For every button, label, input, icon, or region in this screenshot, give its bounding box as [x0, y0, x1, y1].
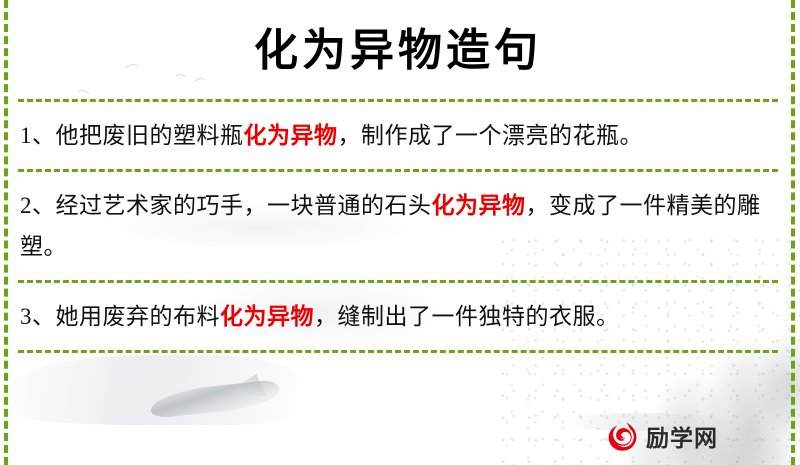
sentence-number: 2、 — [20, 193, 56, 218]
divider-bottom — [18, 350, 778, 353]
content-area: 化为异物造句 1、他把废旧的塑料瓶化为异物，制作成了一个漂亮的花瓶。 2、经过艺… — [0, 0, 800, 465]
page-root: ⌒ ⌒ ⌒ ⌒ 化为异物造句 1、他把废旧的塑料瓶化为异物，制作成了一个漂亮的花… — [0, 0, 800, 465]
sentence-text-before: 她用废弃的布料 — [56, 304, 221, 329]
highlighted-idiom: 化为异物 — [220, 304, 314, 329]
sentence-text-before: 他把废旧的塑料瓶 — [56, 123, 244, 148]
sentence-item-2: 2、经过艺术家的巧手，一块普通的石头化为异物，变成了一件精美的雕塑。 — [18, 172, 778, 280]
highlighted-idiom: 化为异物 — [244, 123, 338, 148]
site-logo[interactable]: 励学网 — [606, 419, 718, 453]
sentence-number: 3、 — [20, 304, 56, 329]
sentence-text-after: ，制作成了一个漂亮的花瓶。 — [338, 123, 644, 148]
site-logo-text: 励学网 — [646, 419, 718, 453]
sentence-item-3: 3、她用废弃的布料化为异物，缝制出了一件独特的衣服。 — [18, 283, 778, 350]
sentence-text-after: ，缝制出了一件独特的衣服。 — [314, 304, 620, 329]
right-dashed-border — [791, 0, 795, 465]
sentence-text-before: 经过艺术家的巧手，一块普通的石头 — [56, 193, 432, 218]
sentence-item-1: 1、他把废旧的塑料瓶化为异物，制作成了一个漂亮的花瓶。 — [18, 102, 778, 169]
page-title: 化为异物造句 — [18, 0, 778, 78]
highlighted-idiom: 化为异物 — [432, 193, 526, 218]
sentence-number: 1、 — [20, 123, 56, 148]
left-dashed-border — [4, 0, 8, 465]
swirl-flame-icon — [606, 420, 639, 453]
